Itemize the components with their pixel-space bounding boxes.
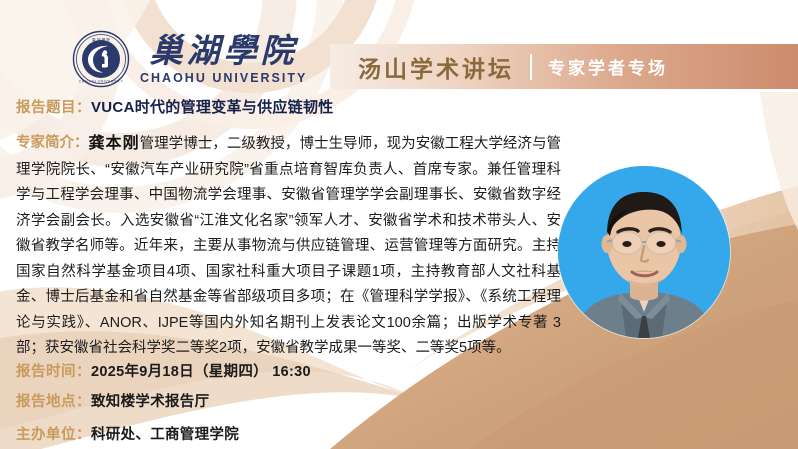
banner-main-title: 汤山学术讲坛: [358, 50, 514, 84]
report-time-value: 2025年9月18日（星期四） 16:30: [91, 360, 311, 381]
report-place-label: 报告地点：: [16, 390, 91, 411]
university-seal-icon: 巢 湖 學 院 CHAOHU UNIVERSITY: [72, 30, 130, 88]
wordmark-cn: 巢湖學院: [150, 34, 298, 67]
report-time-label: 报告时间：: [16, 360, 91, 381]
forum-banner: 汤山学术讲坛 专家学者专场: [330, 44, 798, 89]
banner-subtitle: 专家学者专场: [548, 54, 668, 79]
report-host-value: 科研处、工商管理学院: [91, 423, 239, 444]
svg-text:巢 湖 學 院: 巢 湖 學 院: [92, 37, 110, 42]
speaker-bio-label: 专家简介：: [16, 131, 89, 157]
report-title-row: 报告题目： VUCA时代的管理变革与供应链韧性: [16, 96, 334, 117]
report-time-row: 报告时间： 2025年9月18日（星期四） 16:30: [16, 360, 311, 381]
report-title-label: 报告题目：: [16, 96, 91, 117]
speaker-bio-block: 专家简介： 龚本刚管理学博士，二级教授，博士生导师，现为安徽工程大学经济与管理学…: [16, 131, 561, 362]
university-logo: 巢 湖 學 院 CHAOHU UNIVERSITY 巢湖學院 CHAOHU UN…: [72, 30, 307, 88]
report-host-label: 主办单位：: [16, 423, 91, 444]
speaker-name: 龚本刚: [89, 135, 140, 152]
speaker-portrait: [558, 166, 730, 338]
speaker-bio-text: 管理学博士，二级教授，博士生导师，现为安徽工程大学经济与管理学院院长、“安徽汽车…: [16, 136, 561, 356]
report-place-row: 报告地点： 致知楼学术报告厅: [16, 390, 209, 411]
report-title-value: VUCA时代的管理变革与供应链韧性: [91, 96, 334, 117]
report-place-value: 致知楼学术报告厅: [91, 390, 209, 411]
university-wordmark: 巢湖學院 CHAOHU UNIVERSITY: [140, 34, 307, 85]
lecture-poster: 巢 湖 學 院 CHAOHU UNIVERSITY 巢湖學院 CHAOHU UN…: [0, 0, 798, 449]
poster-header: 巢 湖 學 院 CHAOHU UNIVERSITY 巢湖學院 CHAOHU UN…: [0, 0, 798, 92]
portrait-illustration: [558, 166, 730, 338]
speaker-bio-text-container: 龚本刚管理学博士，二级教授，博士生导师，现为安徽工程大学经济与管理学院院长、“安…: [16, 131, 561, 362]
wordmark-en: CHAOHU UNIVERSITY: [140, 72, 307, 85]
report-host-row: 主办单位： 科研处、工商管理学院: [16, 423, 239, 444]
banner-divider: [530, 54, 532, 80]
svg-text:CHAOHU UNIVERSITY: CHAOHU UNIVERSITY: [79, 80, 124, 84]
